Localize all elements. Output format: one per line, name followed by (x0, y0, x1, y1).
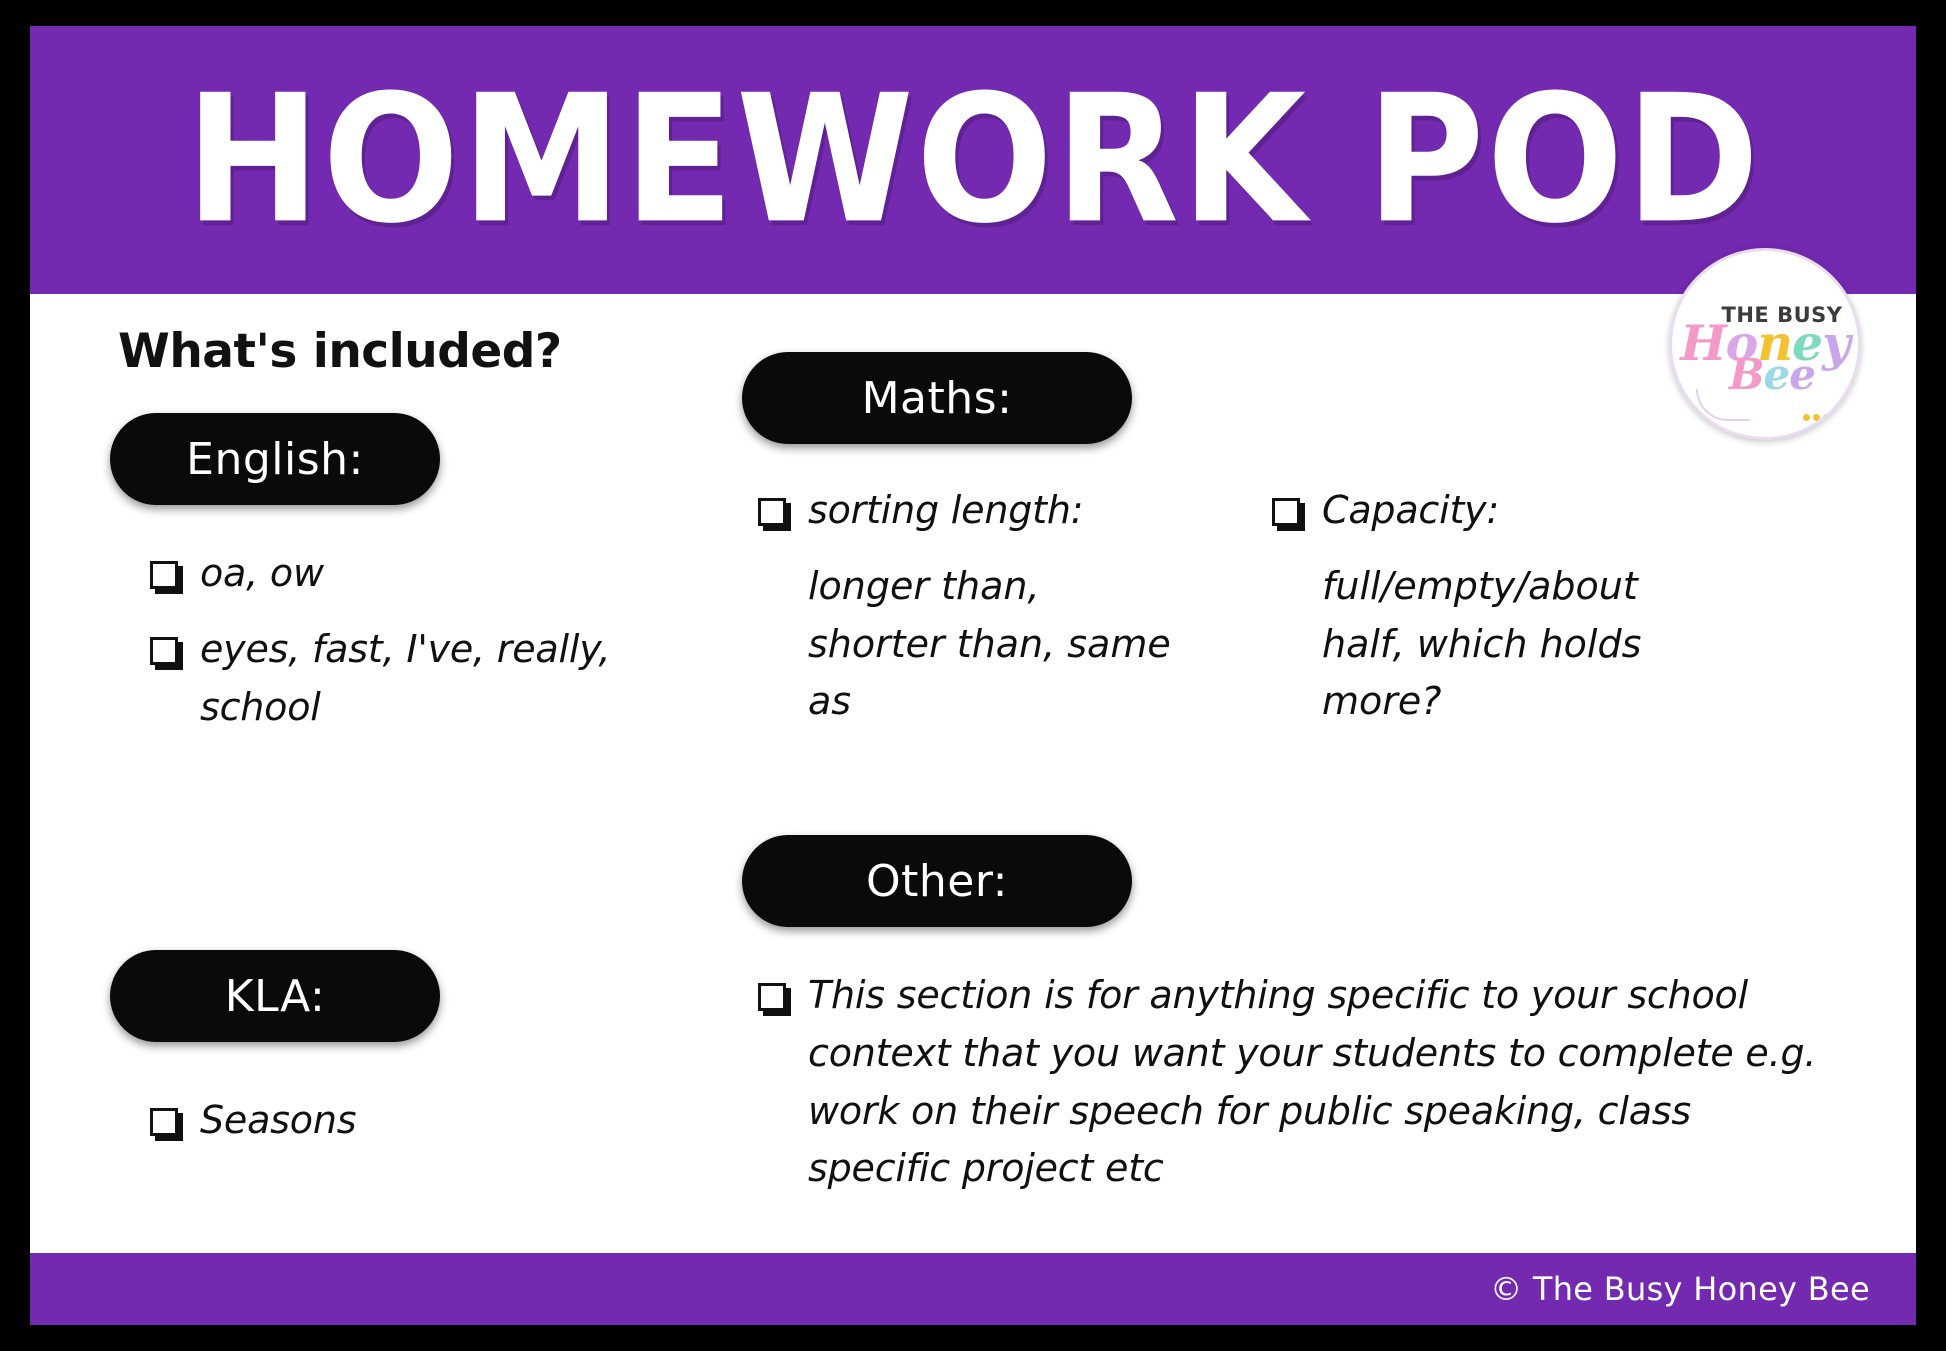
checkbox-icon[interactable] (150, 1108, 178, 1136)
logo-swirl-icon (1696, 389, 1750, 421)
maths-columns: sorting length: longer than, shorter tha… (758, 482, 1870, 731)
list-item-label: Capacity: (1322, 482, 1499, 540)
right-column: Maths: sorting length: longer than, shor… (710, 352, 1870, 1216)
poster-page: HOMEWORK POD THE BUSY Honey Bee What's i… (0, 0, 1946, 1351)
maths-column-capacity: Capacity: full/empty/about half, which h… (1272, 482, 1692, 731)
list-item[interactable]: This section is for anything specific to… (758, 967, 1870, 1198)
footer-banner: © The Busy Honey Bee (30, 1253, 1916, 1325)
list-item[interactable]: eyes, fast, I've, really, school (150, 621, 728, 737)
other-checklist: This section is for anything specific to… (758, 967, 1870, 1198)
left-column: What's included? English: oa, ow eyes, f… (88, 324, 728, 1168)
page-title: HOMEWORK POD (185, 72, 1761, 248)
checkbox-icon[interactable] (758, 498, 786, 526)
logo-bee-text: Bee (1729, 356, 1815, 394)
english-section: English: oa, ow eyes, fast, I've, really… (88, 413, 728, 736)
kla-section: KLA: Seasons (88, 950, 728, 1150)
kla-checklist: Seasons (150, 1092, 728, 1150)
whats-included-heading: What's included? (118, 324, 728, 379)
english-checklist: oa, ow eyes, fast, I've, really, school (150, 545, 728, 736)
list-item-label: Seasons (200, 1092, 356, 1150)
logo-honey-letter: H (1680, 321, 1725, 366)
checkbox-icon[interactable] (1272, 498, 1300, 526)
header-banner: HOMEWORK POD (30, 26, 1916, 294)
other-section: Other: This section is for anything spec… (710, 835, 1870, 1198)
logo-honey-letter: y (1822, 321, 1849, 366)
logo-bee-letter: e (1789, 350, 1815, 399)
copyright-text: © The Busy Honey Bee (1490, 1270, 1870, 1308)
checkbox-icon[interactable] (150, 637, 178, 665)
list-item[interactable]: sorting length: (758, 482, 1178, 540)
kla-pill-label: KLA: (110, 950, 440, 1042)
list-item[interactable]: oa, ow (150, 545, 728, 603)
poster-sheet: HOMEWORK POD THE BUSY Honey Bee What's i… (30, 26, 1916, 1325)
maths-column-length: sorting length: longer than, shorter tha… (758, 482, 1178, 731)
list-item-label: eyes, fast, I've, really, school (200, 621, 728, 737)
list-item[interactable]: Capacity: (1272, 482, 1692, 540)
checkbox-icon[interactable] (758, 983, 786, 1011)
brand-logo: THE BUSY Honey Bee (1669, 248, 1861, 440)
maths-pill-label: Maths: (742, 352, 1132, 444)
other-pill-label: Other: (742, 835, 1132, 927)
maths-detail-text: longer than, shorter than, same as (808, 558, 1178, 731)
checkbox-icon[interactable] (150, 561, 178, 589)
english-pill-label: English: (110, 413, 440, 505)
list-item-label: This section is for anything specific to… (808, 967, 1818, 1198)
logo-bee-letter: e (1764, 350, 1790, 399)
list-item-label: oa, ow (200, 545, 324, 603)
honeycomb-dots-icon (1803, 414, 1830, 421)
maths-detail-text: full/empty/about half, which holds more? (1322, 558, 1692, 731)
list-item-label: sorting length: (808, 482, 1083, 540)
list-item[interactable]: Seasons (150, 1092, 728, 1150)
poster-body: What's included? English: oa, ow eyes, f… (30, 294, 1916, 1253)
